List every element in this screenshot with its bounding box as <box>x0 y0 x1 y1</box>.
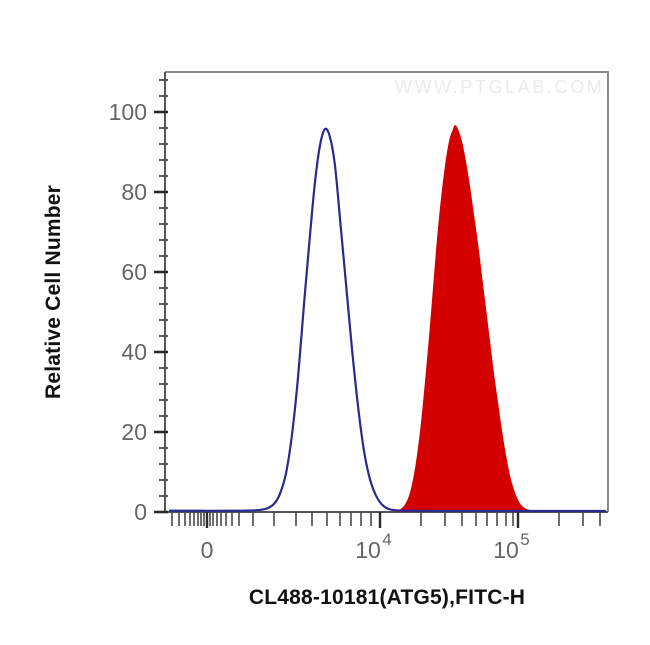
y-axis-title: Relative Cell Number <box>42 185 65 399</box>
chart-svg: WWW.PTGLAB.COM <box>0 0 650 645</box>
x-tick-label-0: 0 <box>201 537 214 563</box>
x-tick-label-1e5-mantissa: 10 <box>493 537 519 563</box>
watermark-text: WWW.PTGLAB.COM <box>395 77 604 97</box>
y-tick-label-40: 40 <box>121 339 147 365</box>
x-axis-title: CL488-10181(ATG5),FITC-H <box>249 586 525 609</box>
y-tick-label-60: 60 <box>121 259 147 285</box>
x-tick-label-1e4-exponent: 4 <box>382 530 391 549</box>
x-tick-label-1e4-mantissa: 10 <box>355 537 381 563</box>
y-tick-label-20: 20 <box>121 419 147 445</box>
y-tick-label-0: 0 <box>134 499 147 525</box>
y-tick-label-80: 80 <box>121 179 147 205</box>
x-tick-label-1e5-exponent: 5 <box>520 530 529 549</box>
y-tick-label-100: 100 <box>109 99 147 125</box>
flow-cytometry-histogram: WWW.PTGLAB.COM <box>0 0 650 645</box>
